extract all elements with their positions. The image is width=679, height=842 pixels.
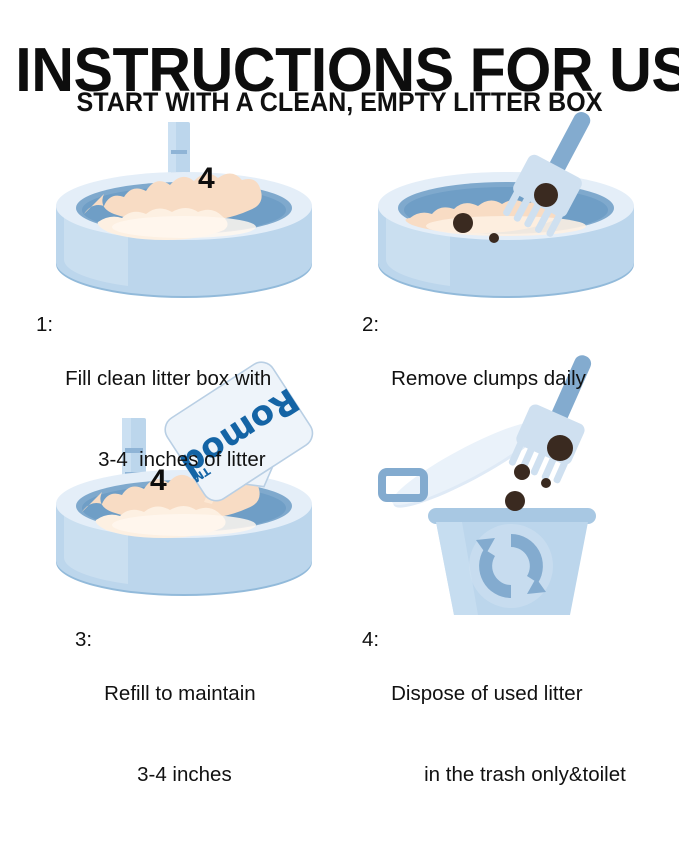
caption-step-2: Remove clumps daily xyxy=(362,311,586,446)
caption-step-2-line-1: Remove clumps daily xyxy=(391,365,586,392)
ruler-value-label: 4 xyxy=(198,162,215,195)
caption-step-4: Dispose of used litter in the trash only… xyxy=(362,626,626,842)
caption-step-1-line-2: 3-4 inches of litter xyxy=(65,446,271,473)
illustration-step-1: 4 xyxy=(28,110,340,310)
step-number-1: 1: xyxy=(36,311,53,338)
caption-step-4-line-1: Dispose of used litter xyxy=(391,680,626,707)
caption-step-1: Fill clean litter box with 3-4 inches of… xyxy=(36,311,271,527)
caption-step-3-line-1: Refill to maintain xyxy=(104,680,256,707)
instructions-page: INSTRUCTIONS FOR USE START WITH A CLEAN,… xyxy=(0,0,679,680)
step-number-2: 2: xyxy=(362,311,379,338)
step-number-3: 3: xyxy=(75,626,92,653)
caption-step-1-line-1: Fill clean litter box with xyxy=(65,365,271,392)
caption-step-3-line-2: 3-4 inches xyxy=(104,761,256,788)
caption-step-4-line-2: in the trash only&toilet xyxy=(391,761,626,788)
trash-can xyxy=(428,508,596,615)
illustration-step-2 xyxy=(350,110,662,310)
step-number-4: 4: xyxy=(362,626,379,653)
caption-step-3: Refill to maintain 3-4 inches xyxy=(75,626,256,842)
recycle-symbol xyxy=(469,524,553,608)
